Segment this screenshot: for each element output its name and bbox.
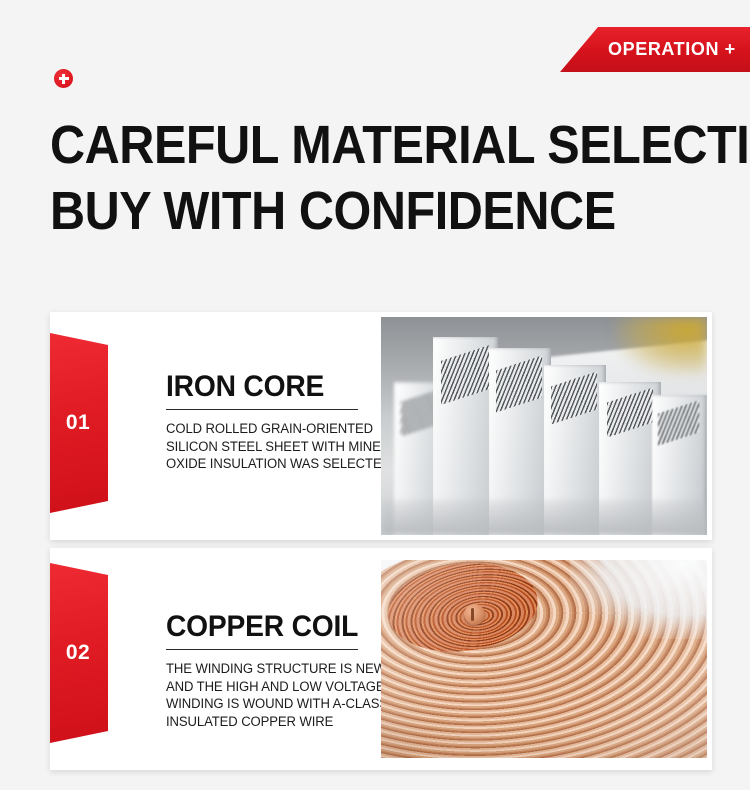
operation-banner: OPERATION + (560, 27, 750, 72)
card-text-block: IRON CORE COLD ROLLED GRAIN-ORIENTED SIL… (166, 370, 416, 473)
card-description-line: WINDING IS WOUND WITH A-CLASS (166, 695, 409, 713)
card-number-tab: 02 (50, 563, 108, 743)
card-text-block: COPPER COIL THE WINDING STRUCTURE IS NEW… (166, 610, 416, 730)
card-description-line: SILICON STEEL SHEET WITH MINERAL (166, 438, 409, 456)
plus-circle-icon (54, 69, 73, 88)
card-number-tab: 01 (50, 333, 108, 513)
steel-scene (381, 317, 707, 535)
feature-card-iron-core: 01 IRON CORE COLD ROLLED GRAIN-ORIENTED … (50, 312, 712, 540)
card-description-line: INSULATED COPPER WIRE (166, 713, 409, 731)
card-description-line: COLD ROLLED GRAIN-ORIENTED (166, 420, 409, 438)
title-divider (166, 649, 358, 650)
title-divider (166, 409, 358, 410)
feature-card-copper-coil: 02 COPPER COIL THE WINDING STRUCTURE IS … (50, 548, 712, 770)
copper-background-highlight (570, 560, 707, 639)
steel-yellow-glow (615, 317, 707, 375)
card-description: COLD ROLLED GRAIN-ORIENTED SILICON STEEL… (166, 420, 409, 473)
headline-line-1: CAREFUL MATERIAL SELECTION (50, 112, 662, 178)
card-description: THE WINDING STRUCTURE IS NEW, AND THE HI… (166, 660, 409, 730)
infographic-page: OPERATION + CAREFUL MATERIAL SELECTION B… (0, 0, 750, 790)
headline-line-2: BUY WITH CONFIDENCE (50, 178, 662, 244)
card-description-line: THE WINDING STRUCTURE IS NEW, (166, 660, 409, 678)
card-title: IRON CORE (166, 370, 401, 404)
card-number-label: 02 (66, 641, 90, 665)
card-title: COPPER COIL (166, 610, 401, 644)
silicon-steel-laminations-photo (381, 317, 707, 535)
operation-banner-label: OPERATION + (608, 39, 736, 60)
copper-coil-photo (381, 560, 707, 758)
card-number-label: 01 (66, 411, 90, 435)
card-description-line: AND THE HIGH AND LOW VOLTAGE (166, 678, 409, 696)
page-title: CAREFUL MATERIAL SELECTION BUY WITH CONF… (50, 112, 730, 244)
copper-tube-end (464, 604, 485, 625)
steel-floor-blur (381, 500, 707, 535)
card-description-line: OXIDE INSULATION WAS SELECTED (166, 455, 409, 473)
copper-scene (381, 560, 707, 758)
